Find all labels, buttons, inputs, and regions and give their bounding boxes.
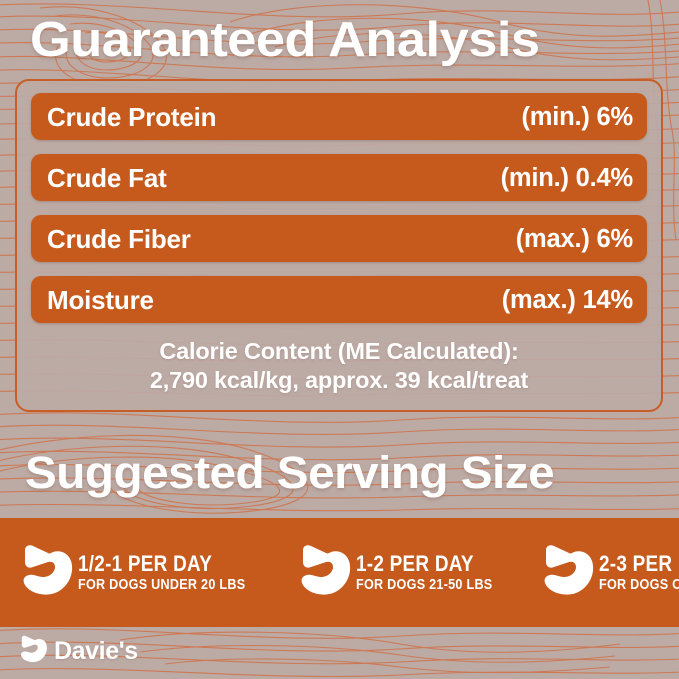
analysis-row-value: (max.) 6% xyxy=(516,224,633,254)
packaging-label-panel: Guaranteed Analysis Crude Protein (min.)… xyxy=(0,0,679,679)
calorie-content-heading: Calorie Content (ME Calculated): xyxy=(31,337,647,366)
analysis-row-label: Crude Fiber xyxy=(47,224,191,254)
serving-weight-range: FOR DOGS OVER 50 LBS xyxy=(599,577,679,593)
serving-amount: 1/2-1 PER DAY xyxy=(78,552,243,575)
brand-name: Davie's xyxy=(54,637,138,665)
davies-crescent-logo-icon xyxy=(18,633,48,670)
calorie-content-value: 2,790 kcal/kg, approx. 39 kcal/treat xyxy=(31,366,647,395)
serving-item-large-dogs: 2-3 PER DAY FOR DOGS OVER 50 LBS xyxy=(539,518,679,627)
treat-crescent-icon xyxy=(539,540,595,605)
serving-item-medium-dogs: 1-2 PER DAY FOR DOGS 21-50 LBS xyxy=(296,518,513,627)
page-title-guaranteed-analysis: Guaranteed Analysis xyxy=(30,12,539,68)
suggested-serving-band: 1/2-1 PER DAY FOR DOGS UNDER 20 LBS 1-2 … xyxy=(0,518,679,627)
analysis-row-label: Crude Protein xyxy=(47,102,216,132)
analysis-row-label: Moisture xyxy=(47,285,154,315)
analysis-row-value: (min.) 0.4% xyxy=(501,163,633,193)
serving-weight-range: FOR DOGS 21-50 LBS xyxy=(356,577,492,593)
analysis-row-crude-protein: Crude Protein (min.) 6% xyxy=(31,93,647,140)
serving-amount: 1-2 PER DAY xyxy=(356,552,491,575)
guaranteed-analysis-panel: Crude Protein (min.) 6% Crude Fat (min.)… xyxy=(15,79,663,412)
analysis-row-label: Crude Fat xyxy=(47,163,167,193)
analysis-row-moisture: Moisture (max.) 14% xyxy=(31,276,647,323)
serving-item-small-dogs: 1/2-1 PER DAY FOR DOGS UNDER 20 LBS xyxy=(18,518,270,627)
analysis-row-crude-fiber: Crude Fiber (max.) 6% xyxy=(31,215,647,262)
serving-amount: 2-3 PER DAY xyxy=(599,552,679,575)
calorie-content-block: Calorie Content (ME Calculated): 2,790 k… xyxy=(31,337,647,395)
analysis-row-value: (max.) 14% xyxy=(502,285,633,315)
treat-crescent-icon xyxy=(18,540,74,605)
serving-item-text: 2-3 PER DAY FOR DOGS OVER 50 LBS xyxy=(599,552,679,593)
serving-item-text: 1/2-1 PER DAY FOR DOGS UNDER 20 LBS xyxy=(78,552,270,593)
brand-logo: Davie's xyxy=(18,634,138,668)
analysis-row-value: (min.) 6% xyxy=(521,102,633,132)
serving-weight-range: FOR DOGS UNDER 20 LBS xyxy=(78,577,245,593)
analysis-row-crude-fat: Crude Fat (min.) 0.4% xyxy=(31,154,647,201)
treat-crescent-icon xyxy=(296,540,352,605)
serving-item-text: 1-2 PER DAY FOR DOGS 21-50 LBS xyxy=(356,552,513,593)
section-title-suggested-serving-size: Suggested Serving Size xyxy=(25,447,554,499)
